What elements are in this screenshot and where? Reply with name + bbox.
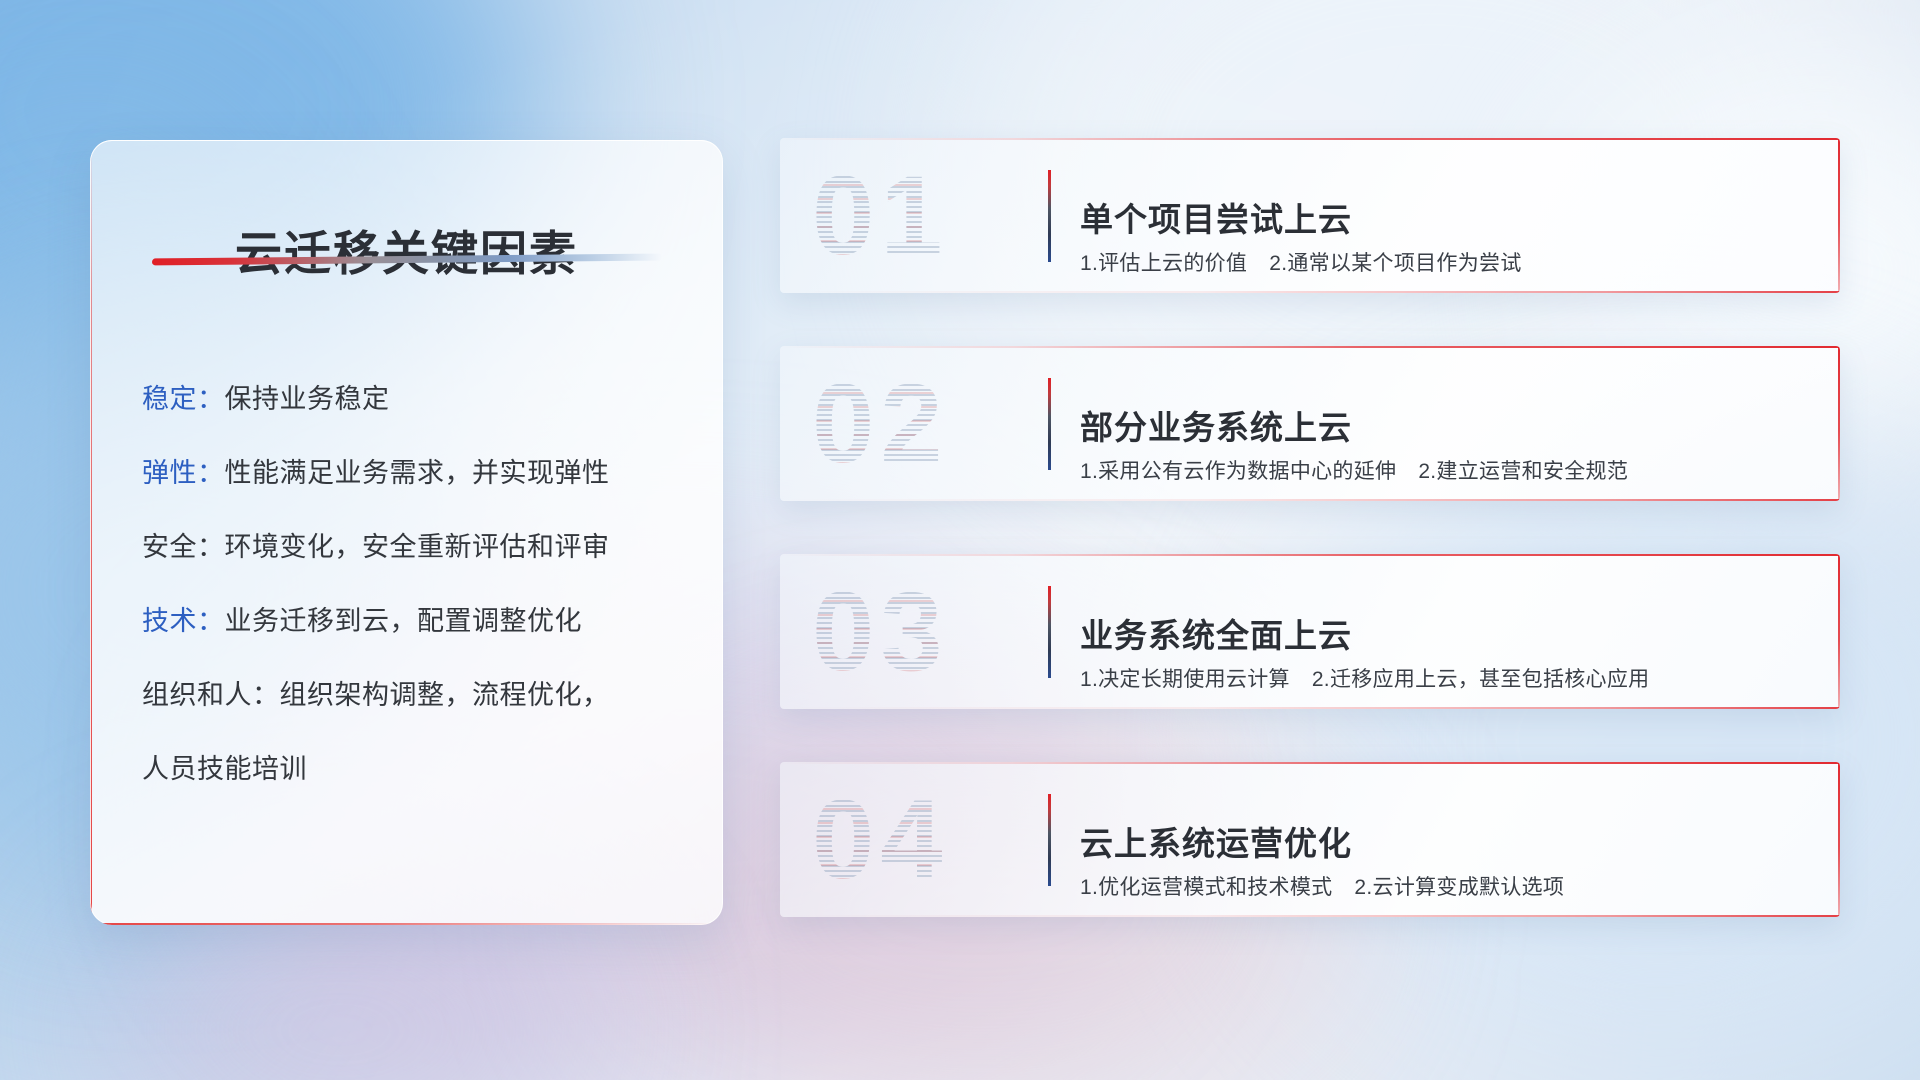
- card-description: 1.评估上云的价值2.通常以某个项目作为尝试: [1080, 247, 1522, 277]
- factor-label: 技术：: [142, 606, 225, 636]
- card-step-number: 04: [812, 780, 1042, 900]
- migration-stage-card[interactable]: 0303业务系统全面上云1.决定长期使用云计算2.迁移应用上云，甚至包括核心应用: [780, 554, 1840, 709]
- factor-value: 人员技能培训: [142, 754, 307, 784]
- factor-value: 环境变化，安全重新评估和评审: [225, 532, 610, 562]
- factor-value: 组织架构调整，流程优化，: [280, 680, 610, 710]
- factor-row: 弹性：性能满足业务需求，并实现弹性: [142, 436, 693, 510]
- factor-row: 技术：业务迁移到云，配置调整优化: [142, 584, 693, 658]
- card-top-accent: [780, 762, 1840, 764]
- factor-label: 弹性：: [142, 458, 225, 488]
- card-description-item: 1.决定长期使用云计算: [1080, 668, 1290, 691]
- migration-stage-card[interactable]: 0404云上系统运营优化1.优化运营模式和技术模式2.云计算变成默认选项: [780, 762, 1840, 917]
- key-factors-panel: 云迁移关键因素 稳定：保持业务稳定弹性：性能满足业务需求，并实现弹性安全：环境变…: [90, 140, 723, 925]
- card-right-accent: [1838, 138, 1840, 293]
- factor-label: 组织和人：: [142, 680, 280, 710]
- card-description-item: 1.采用公有云作为数据中心的延伸: [1080, 460, 1396, 483]
- card-divider-bar: [1048, 170, 1051, 262]
- card-top-accent: [780, 554, 1840, 556]
- card-step-number: 03: [812, 572, 1042, 692]
- card-description-item: 1.优化运营模式和技术模式: [1080, 876, 1332, 899]
- factor-label: 稳定：: [142, 384, 225, 414]
- card-title: 云上系统运营优化: [1080, 817, 1352, 865]
- factor-row: 组织和人：组织架构调整，流程优化，: [142, 658, 693, 732]
- migration-stage-card[interactable]: 0101单个项目尝试上云1.评估上云的价值2.通常以某个项目作为尝试: [780, 138, 1840, 293]
- card-bottom-accent: [780, 499, 1840, 501]
- card-divider-bar: [1048, 378, 1051, 470]
- page-title: 云迁移关键因素: [90, 215, 723, 284]
- card-description: 1.优化运营模式和技术模式2.云计算变成默认选项: [1080, 871, 1564, 901]
- factor-row: 安全：环境变化，安全重新评估和评审: [142, 510, 693, 584]
- factor-value: 保持业务稳定: [225, 384, 390, 414]
- card-title: 单个项目尝试上云: [1080, 193, 1352, 241]
- card-top-accent: [780, 138, 1840, 140]
- card-bottom-accent: [780, 291, 1840, 293]
- card-right-accent: [1838, 554, 1840, 709]
- factor-value: 性能满足业务需求，并实现弹性: [225, 458, 610, 488]
- card-description-item: 2.云计算变成默认选项: [1354, 876, 1564, 899]
- card-title: 部分业务系统上云: [1080, 401, 1352, 449]
- card-description-item: 2.建立运营和安全规范: [1418, 460, 1628, 483]
- migration-stage-card-list: 0101单个项目尝试上云1.评估上云的价值2.通常以某个项目作为尝试0202部分…: [780, 138, 1840, 970]
- card-divider-bar: [1048, 794, 1051, 886]
- card-bottom-accent: [780, 707, 1840, 709]
- card-description-item: 1.评估上云的价值: [1080, 252, 1247, 275]
- card-top-accent: [780, 346, 1840, 348]
- card-right-accent: [1838, 346, 1840, 501]
- card-description-item: 2.通常以某个项目作为尝试: [1269, 252, 1521, 275]
- card-title: 业务系统全面上云: [1080, 609, 1352, 657]
- card-description: 1.决定长期使用云计算2.迁移应用上云，甚至包括核心应用: [1080, 663, 1649, 693]
- factor-row: 稳定：保持业务稳定: [142, 362, 693, 436]
- card-bottom-accent: [780, 915, 1840, 917]
- factor-label: 安全：: [142, 532, 225, 562]
- card-step-number: 02: [812, 364, 1042, 484]
- factor-value: 业务迁移到云，配置调整优化: [225, 606, 583, 636]
- card-divider-bar: [1048, 586, 1051, 678]
- factor-list: 稳定：保持业务稳定弹性：性能满足业务需求，并实现弹性安全：环境变化，安全重新评估…: [142, 362, 693, 806]
- card-description-item: 2.迁移应用上云，甚至包括核心应用: [1312, 668, 1650, 691]
- factor-row: 人员技能培训: [142, 732, 693, 806]
- card-description: 1.采用公有云作为数据中心的延伸2.建立运营和安全规范: [1080, 455, 1628, 485]
- migration-stage-card[interactable]: 0202部分业务系统上云1.采用公有云作为数据中心的延伸2.建立运营和安全规范: [780, 346, 1840, 501]
- card-right-accent: [1838, 762, 1840, 917]
- card-step-number: 01: [812, 156, 1042, 276]
